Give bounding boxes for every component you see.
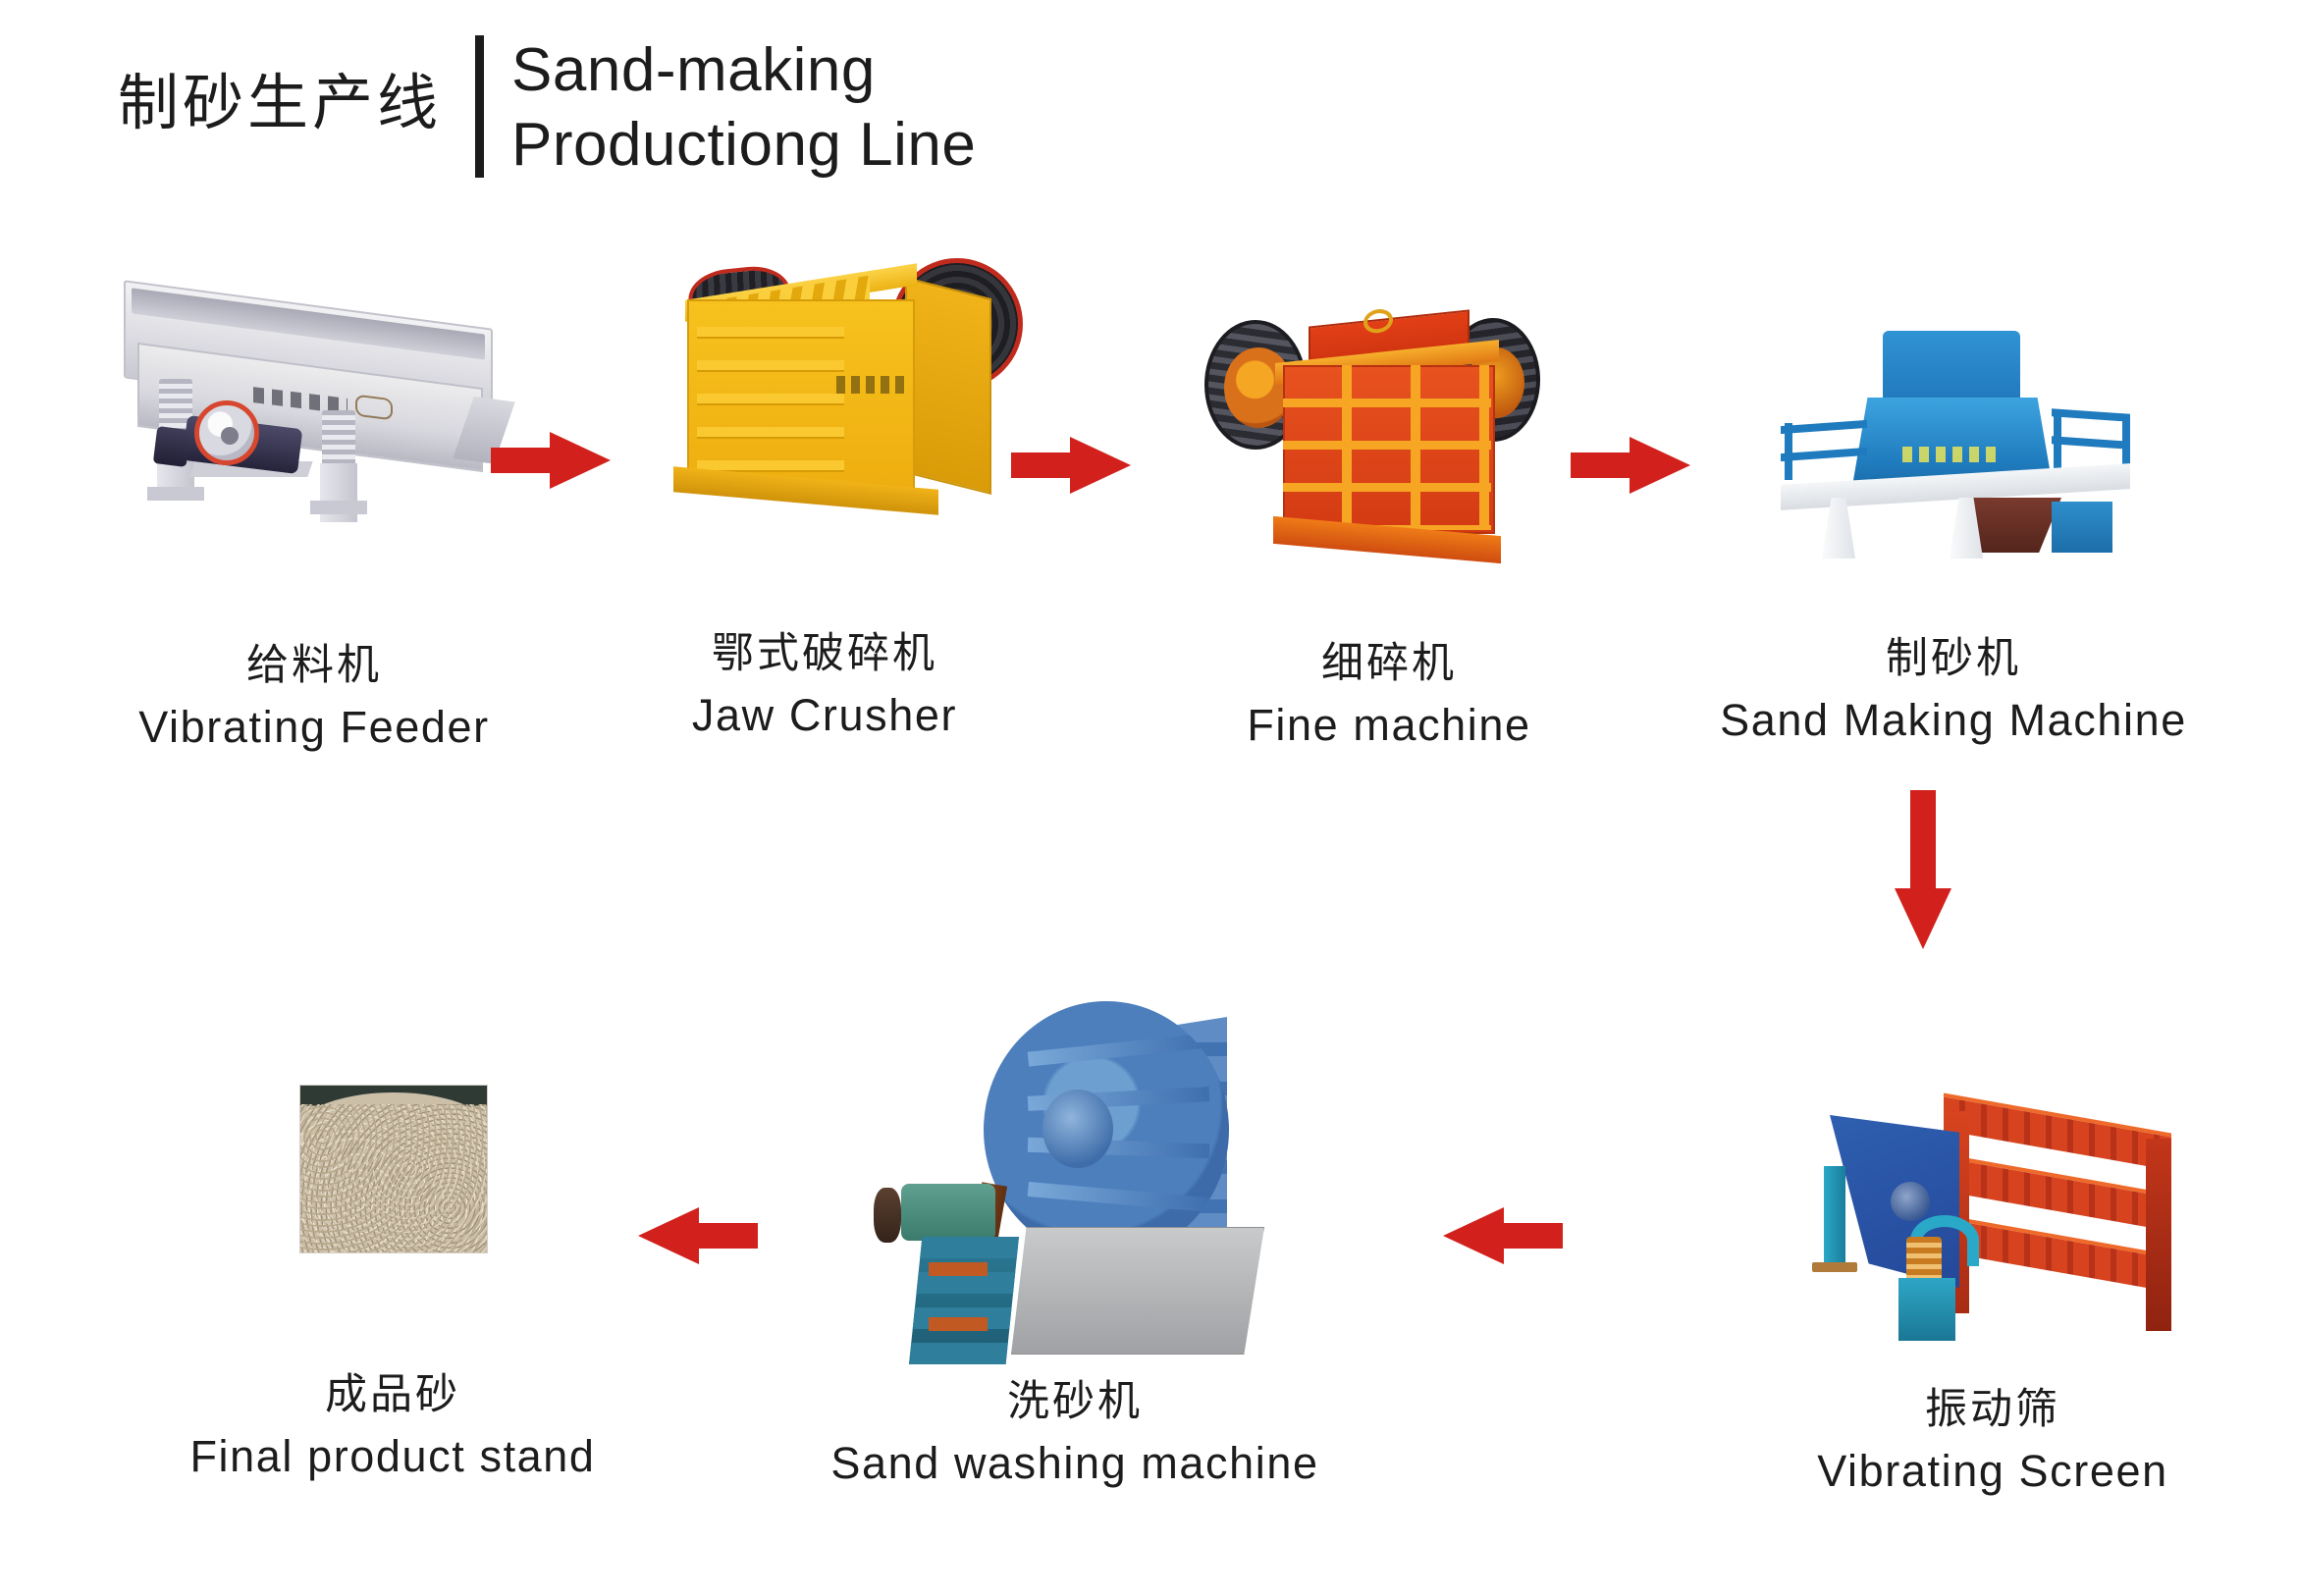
screen-deck <box>1944 1093 2171 1171</box>
washer-gearbox <box>901 1184 995 1241</box>
feeder-pulley <box>194 400 259 465</box>
label-cn-fine-machine: 细碎机 <box>1114 638 1664 691</box>
screen-spring-base <box>1898 1278 1955 1341</box>
caption-sand-making-machine: 制砂机 Sand Making Machine <box>1634 633 2272 749</box>
label-en-sand-washing-machine: Sand washing machine <box>707 1435 1443 1493</box>
washer-blade <box>1028 1182 1210 1212</box>
vsi-handrail <box>1781 420 1867 434</box>
jaw-rib <box>697 427 844 439</box>
arrow-screen-to-washer <box>1433 1207 1563 1264</box>
label-en-vibrating-screen: Vibrating Screen <box>1669 1443 2298 1501</box>
arrow-head <box>1070 437 1131 494</box>
washer-tank <box>1011 1227 1264 1355</box>
screen-deck-group <box>1944 1109 2171 1315</box>
caption-jaw-crusher: 鄂式破碎机 Jaw Crusher <box>510 628 1139 744</box>
sand-washing-machine-image <box>864 991 1286 1374</box>
screen-deck <box>1944 1154 2171 1232</box>
arrow-head <box>1895 888 1951 949</box>
label-en-jaw-crusher: Jaw Crusher <box>510 687 1139 745</box>
label-cn-vibrating-screen: 振动筛 <box>1669 1384 2298 1437</box>
label-en-sand-making-machine: Sand Making Machine <box>1634 692 2272 750</box>
arrow-shaft <box>1496 1223 1563 1249</box>
vibrating-feeder-image <box>98 294 520 515</box>
label-en-fine-machine: Fine machine <box>1114 697 1664 755</box>
jaw-side-panel <box>905 277 991 495</box>
jaw-brand-badge <box>836 376 907 394</box>
vsi-motor-box <box>2052 502 2112 553</box>
node-jaw-crusher[interactable]: 鄂式破碎机 Jaw Crusher <box>628 250 1021 535</box>
jaw-rib-group <box>697 327 844 474</box>
arrow-shaft <box>691 1223 758 1249</box>
node-vibrating-screen[interactable]: 振动筛 Vibrating Screen <box>1796 1099 2189 1394</box>
sand-pile-photo <box>299 1085 488 1253</box>
screen-foot-pad-left <box>1812 1262 1857 1272</box>
node-vibrating-feeder[interactable]: 给料机 Vibrating Feeder <box>98 294 520 515</box>
washer-motor-pulley <box>874 1188 901 1243</box>
caption-fine-machine: 细碎机 Fine machine <box>1114 638 1664 754</box>
caption-final-product: 成品砂 Final product stand <box>93 1369 692 1485</box>
label-cn-final-product: 成品砂 <box>93 1369 692 1422</box>
page-title-english: Sand-making Productiong Line <box>511 29 976 182</box>
arrow-shaft <box>1011 452 1078 478</box>
label-cn-sand-making-machine: 制砂机 <box>1634 633 2272 686</box>
label-cn-jaw-crusher: 鄂式破碎机 <box>510 628 1139 681</box>
arrow-head <box>1443 1207 1504 1264</box>
feeder-motor-cap <box>153 426 190 467</box>
node-final-product[interactable]: 成品砂 Final product stand <box>299 1085 488 1253</box>
jaw-rib <box>697 360 844 372</box>
sand-making-machine-image <box>1757 329 2150 574</box>
arrow-head <box>550 432 611 489</box>
arrow-jaw-to-fine <box>1011 437 1141 494</box>
jaw-crusher-image <box>628 250 1021 535</box>
arrow-sandmaker-to-screen <box>1895 790 1951 952</box>
sand-pile-texture <box>300 1104 487 1252</box>
arrow-shaft <box>1910 790 1936 896</box>
arrow-feeder-to-jaw <box>491 432 620 489</box>
jaw-rib <box>697 394 844 405</box>
vsi-handrail <box>1781 448 1867 461</box>
page-header: 制砂生产线 Sand-making Productiong Line <box>118 29 976 182</box>
arrow-fine-to-sandmaker <box>1571 437 1700 494</box>
feeder-foot-left <box>147 487 204 501</box>
jaw-rib <box>697 327 844 339</box>
label-en-final-product: Final product stand <box>93 1428 692 1486</box>
washer-wheel-hub <box>1042 1090 1113 1168</box>
arrow-shaft <box>1571 452 1637 478</box>
arrow-head <box>638 1207 699 1264</box>
page-title-chinese: 制砂生产线 <box>118 29 442 177</box>
vibrating-screen-image <box>1796 1099 2189 1394</box>
screen-exciter-hub <box>1891 1182 1930 1221</box>
arrow-washer-to-product <box>628 1207 758 1264</box>
title-divider <box>475 35 484 178</box>
node-sand-making-machine[interactable]: 制砂机 Sand Making Machine <box>1757 329 2150 574</box>
vsi-handrail <box>2052 408 2130 422</box>
feeder-spring-right <box>322 410 355 467</box>
caption-vibrating-screen: 振动筛 Vibrating Screen <box>1669 1384 2298 1500</box>
fine-rib-grid <box>1283 365 1491 530</box>
arrow-head <box>1630 437 1690 494</box>
vsi-handrail <box>2052 436 2130 450</box>
screen-frame-far <box>2146 1139 2171 1331</box>
feeder-foot-right <box>310 501 367 514</box>
node-sand-washing-machine[interactable]: 洗砂机 Sand washing machine <box>864 991 1286 1374</box>
fine-machine-image <box>1193 304 1585 579</box>
caption-sand-washing-machine: 洗砂机 Sand washing machine <box>707 1376 1443 1492</box>
node-fine-machine[interactable]: 细碎机 Fine machine <box>1193 304 1585 579</box>
screen-support-leg-left <box>1824 1166 1845 1264</box>
label-cn-sand-washing-machine: 洗砂机 <box>707 1376 1443 1429</box>
arrow-shaft <box>491 448 558 473</box>
washer-blade <box>1028 1033 1210 1066</box>
washer-support-frame <box>909 1237 1019 1364</box>
diagram-canvas: 制砂生产线 Sand-making Productiong Line 给料机 V… <box>0 0 2298 1596</box>
